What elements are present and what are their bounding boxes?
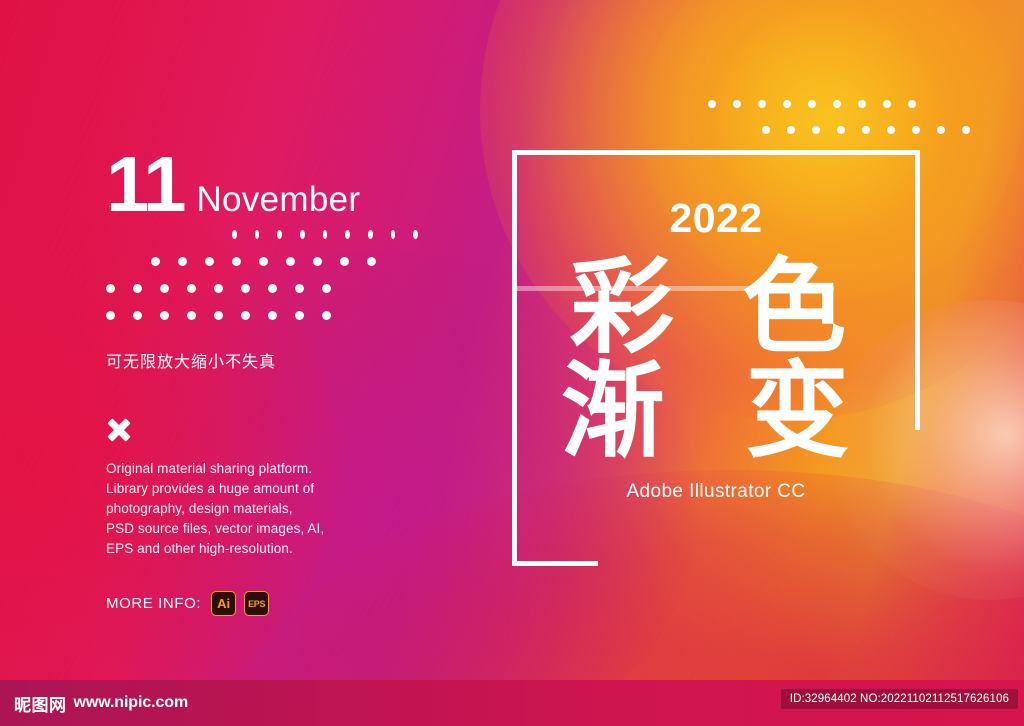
- decorative-dot: [733, 100, 741, 108]
- year-label: 2022: [669, 198, 762, 239]
- decorative-dot: [322, 311, 331, 320]
- decorative-dot: [313, 257, 322, 266]
- description-line: Original material sharing platform.: [106, 459, 436, 479]
- tagline-chinese: 可无限放大缩小不失真: [106, 348, 436, 372]
- decorative-dot: [232, 230, 237, 239]
- decorative-dot: [205, 257, 214, 266]
- dot-row: [106, 284, 436, 293]
- decorative-dot: [345, 230, 350, 239]
- decorative-dot: [787, 126, 795, 134]
- decorative-dot: [912, 126, 920, 134]
- decorative-dot: [106, 311, 115, 320]
- decorative-dot: [708, 100, 716, 108]
- description-line: Library provides a huge amount of: [106, 479, 436, 499]
- decorative-dot: [151, 257, 160, 266]
- decorative-dot: [160, 311, 169, 320]
- software-subtitle: Adobe Illustrator CC: [626, 481, 805, 503]
- decorative-dot: [413, 230, 418, 239]
- decorative-dot: [232, 257, 241, 266]
- decorative-dot: [322, 284, 331, 293]
- decorative-dot: [255, 230, 260, 239]
- decorative-dot: [937, 126, 945, 134]
- dot-row: [151, 257, 436, 266]
- dot-row: [106, 311, 436, 320]
- decorative-dot: [862, 126, 870, 134]
- badge-eps[interactable]: EPS: [244, 591, 269, 616]
- decorative-dot: [808, 100, 816, 108]
- decorative-dot: [106, 284, 115, 293]
- dot-row: [232, 230, 436, 239]
- footer-bar: 昵图网 www.nipic.com ID:32964402 NO:2022110…: [0, 680, 1024, 726]
- decorative-dot: [133, 284, 142, 293]
- decorative-dot: [887, 126, 895, 134]
- decorative-dot: [962, 126, 970, 134]
- decorative-dot: [178, 257, 187, 266]
- dot-row: [762, 126, 987, 134]
- decorative-dot: [783, 100, 791, 108]
- dot-row: [708, 100, 987, 108]
- description-line: PSD source files, vector images, AI,: [106, 519, 436, 539]
- headline-frame: 2022 彩 色 渐 变 Adobe Illustrator CC: [512, 150, 920, 566]
- date-heading: 11 November: [106, 150, 436, 220]
- decorative-dot: [241, 284, 250, 293]
- day-number: 11: [106, 150, 184, 219]
- decorative-dot: [908, 100, 916, 108]
- decorative-dot: [837, 126, 845, 134]
- decorative-dot: [295, 311, 304, 320]
- decorative-dot: [187, 311, 196, 320]
- frame-content: 2022 彩 色 渐 变 Adobe Illustrator CC: [512, 150, 920, 566]
- logo-chinese-name: 昵图网: [14, 691, 67, 716]
- decorative-dot: [133, 311, 142, 320]
- more-info-row: MORE INFO: Ai EPS: [106, 591, 436, 616]
- month-name: November: [196, 180, 360, 220]
- decorative-dot: [214, 284, 223, 293]
- description-line: photography, design materials,: [106, 499, 436, 519]
- decorative-dot: [241, 311, 250, 320]
- asset-id-badge: ID:32964402 NO:20221102112517626106: [781, 689, 1018, 709]
- more-info-label: MORE INFO:: [106, 595, 201, 612]
- decorative-dot: [762, 126, 770, 134]
- decorative-dot: [833, 100, 841, 108]
- decorative-dot: [323, 230, 328, 239]
- logo-url: www.nipic.com: [74, 694, 189, 712]
- decorative-dot: [295, 284, 304, 293]
- headline-line-1: 彩 色: [561, 255, 871, 359]
- decorative-dot: [368, 230, 373, 239]
- decorative-dot: [367, 257, 376, 266]
- decorative-dot: [259, 257, 268, 266]
- decorative-dot: [340, 257, 349, 266]
- decorative-dot: [268, 311, 277, 320]
- decorative-top-dots: [708, 100, 987, 134]
- site-logo[interactable]: 昵图网 www.nipic.com: [14, 691, 188, 716]
- description-paragraph: Original material sharing platform. Libr…: [106, 459, 436, 559]
- decorative-dot: [883, 100, 891, 108]
- poster-canvas: 11 November 可无限放大缩小不失真 Original material…: [0, 0, 1024, 726]
- decorative-dot: [160, 284, 169, 293]
- decorative-dot: [214, 311, 223, 320]
- headline-line-2: 渐 变: [561, 359, 871, 463]
- decorative-dot: [391, 230, 396, 239]
- decorative-dot: [286, 257, 295, 266]
- decorative-dot: [187, 284, 196, 293]
- headline-chinese: 彩 色 渐 变: [561, 255, 871, 463]
- badge-ai[interactable]: Ai: [211, 591, 236, 616]
- left-content-column: 11 November 可无限放大缩小不失真 Original material…: [106, 150, 436, 616]
- decorative-dot: [300, 230, 305, 239]
- x-cross-icon: [106, 417, 132, 443]
- description-line: EPS and other high-resolution.: [106, 539, 436, 559]
- decorative-dot: [277, 230, 282, 239]
- decorative-dot: [758, 100, 766, 108]
- decorative-dot: [812, 126, 820, 134]
- decorative-dot: [858, 100, 866, 108]
- decorative-dot: [268, 284, 277, 293]
- decorative-dot-grid: [106, 230, 436, 320]
